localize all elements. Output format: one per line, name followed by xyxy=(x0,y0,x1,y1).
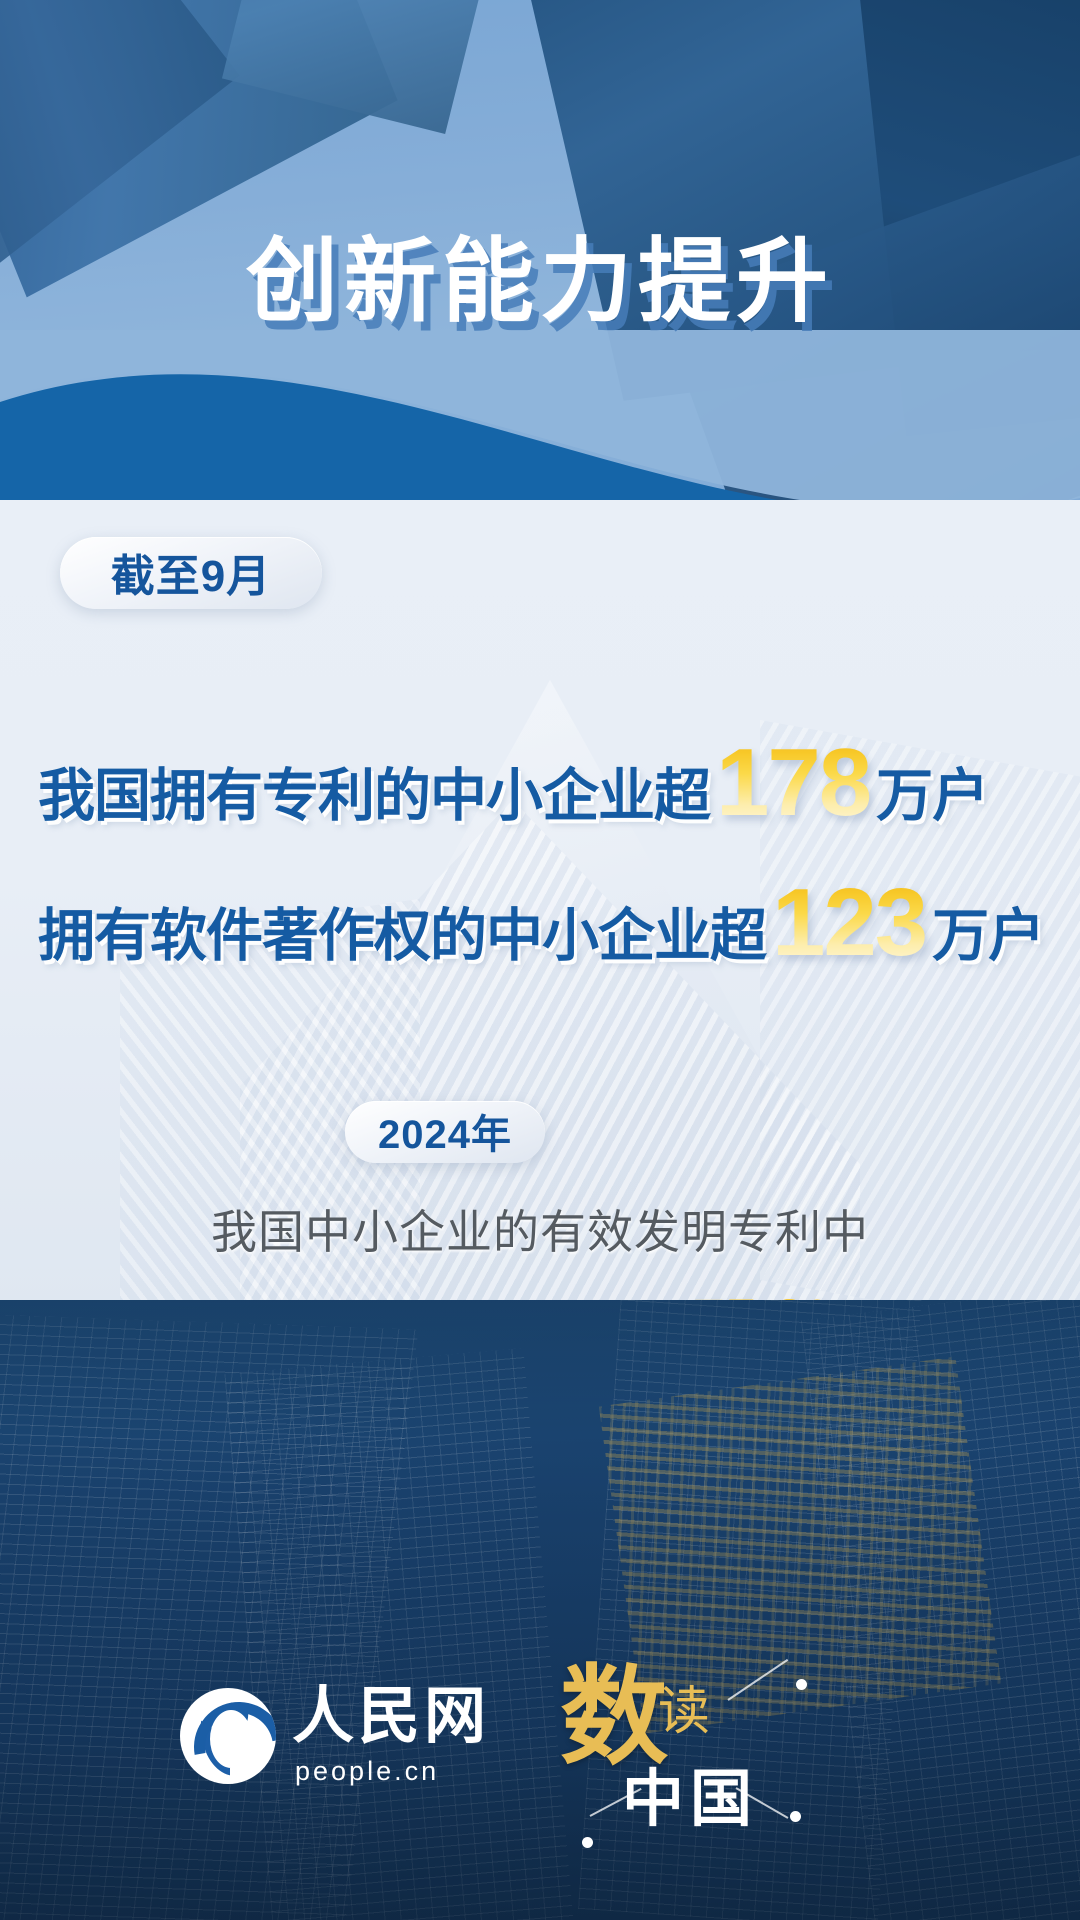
poster-root: 创新能力提升 截至9月 我国拥有专利的中小企业超 178 万户 拥有软件著作权的… xyxy=(0,0,1080,1920)
shudu-node-2 xyxy=(790,1811,801,1822)
shudu-node-1 xyxy=(796,1679,807,1690)
shudu-char-du: 读 xyxy=(658,1687,710,1739)
badge-year-label: 2024年 xyxy=(378,1102,512,1160)
shudu-zhongguo-logo: 数 读 中国 xyxy=(560,1665,820,1855)
stat-row-software-text: 拥有软件著作权的中小企业超 xyxy=(38,890,766,972)
stat-row-patent-value: 178 xyxy=(710,735,876,831)
people-logo-text: 人民网 people.cn xyxy=(292,1686,490,1785)
badge-as-of-date-label: 截至9月 xyxy=(111,540,271,604)
stat-row-patent-unit: 万户 xyxy=(876,750,988,832)
body-line-1: 我国中小企业的有效发明专利中 xyxy=(0,1196,1080,1262)
stat-row-patent-text: 我国拥有专利的中小企业超 xyxy=(38,750,710,832)
page-title: 创新能力提升 xyxy=(0,207,1080,340)
people-cn-logo: 人民网 people.cn xyxy=(180,1686,490,1785)
stat-row-software-unit: 万户 xyxy=(932,890,1044,972)
badge-year: 2024年 xyxy=(345,1101,545,1163)
stat-row-software: 拥有软件著作权的中小企业超 123 万户 xyxy=(38,875,1044,972)
badge-as-of-date: 截至9月 xyxy=(60,537,322,609)
shudu-connector-line-1 xyxy=(727,1659,788,1701)
people-swoosh-icon xyxy=(180,1688,276,1784)
stat-row-patent: 我国拥有专利的中小企业超 178 万户 xyxy=(38,735,988,832)
people-brand-en: people.cn xyxy=(295,1758,490,1785)
footer-shade-overlay xyxy=(0,1300,1080,1920)
body-line-1-text: 我国中小企业的有效发明专利中 xyxy=(211,1206,869,1258)
footer-photo-buildings xyxy=(0,1300,1080,1920)
shudu-char-zhongguo: 中国 xyxy=(622,1769,758,1831)
stat-row-software-value: 123 xyxy=(766,875,932,971)
shudu-node-3 xyxy=(582,1837,593,1848)
people-globe-icon xyxy=(180,1688,276,1784)
shudu-char-shu: 数 xyxy=(560,1665,668,1773)
page-title-text: 创新能力提升 xyxy=(246,207,834,340)
people-brand-cn: 人民网 xyxy=(292,1686,490,1748)
